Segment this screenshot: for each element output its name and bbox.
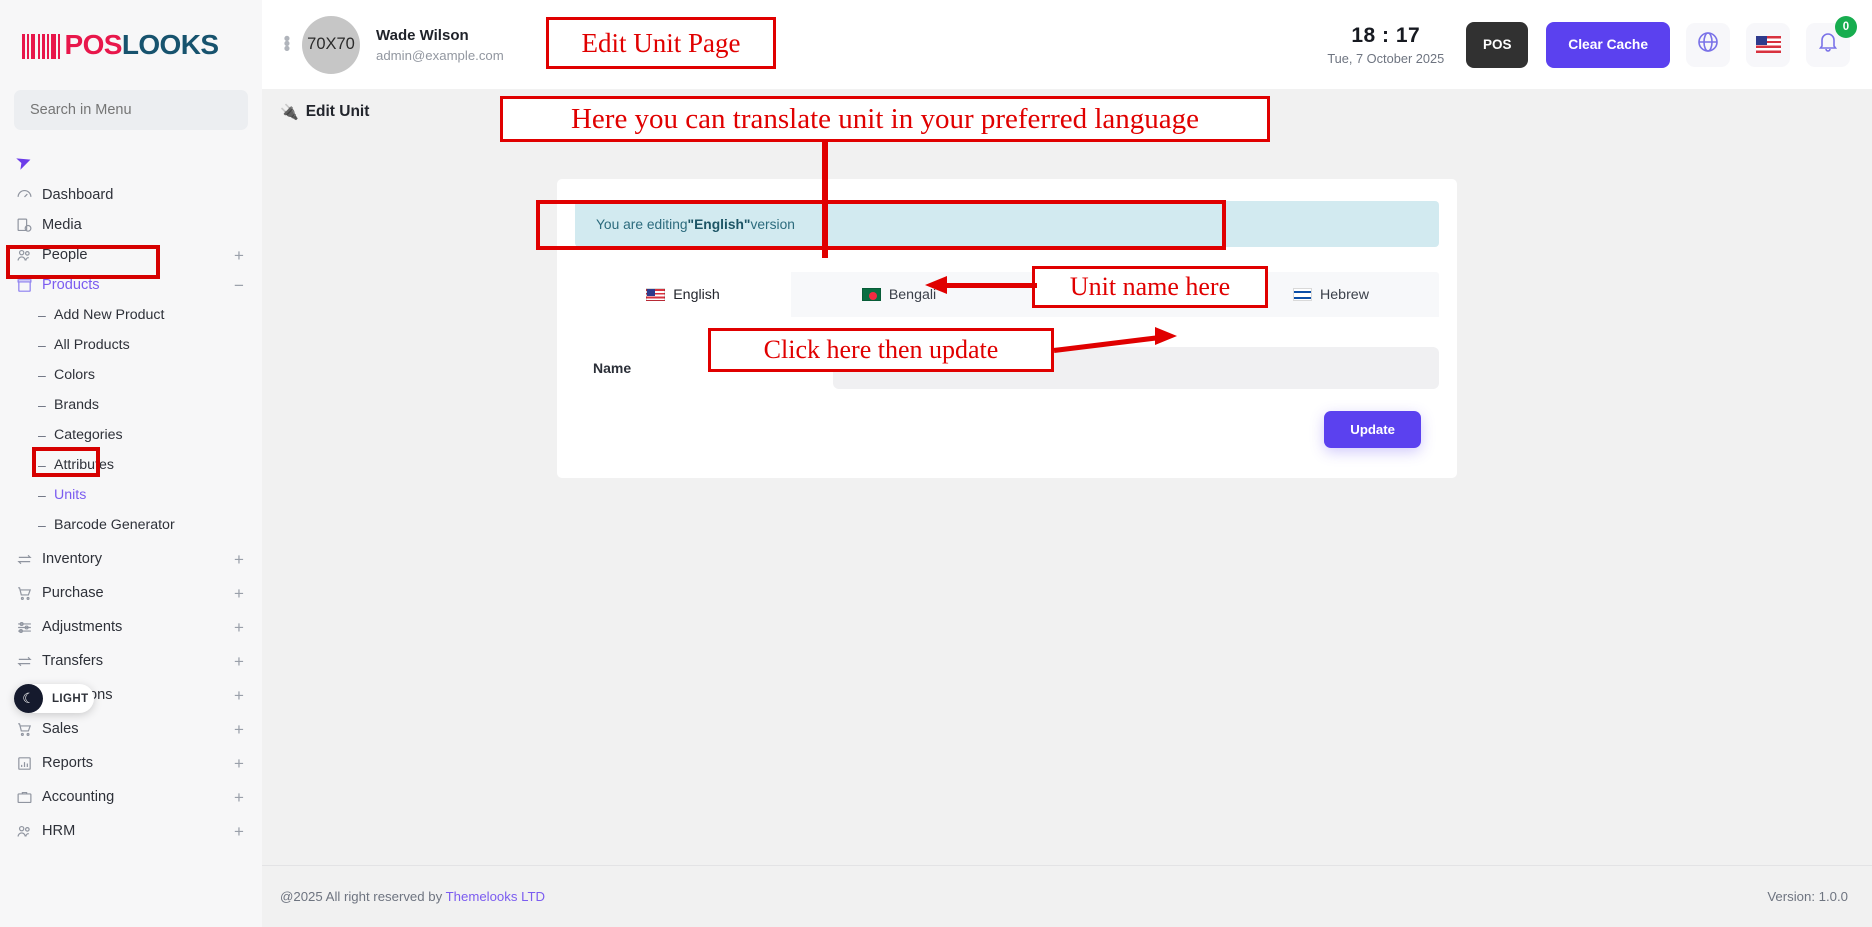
cart-icon (16, 585, 42, 602)
language-tabs: English Bengali Arabic Hebrew (575, 272, 1439, 317)
box-icon (16, 277, 42, 294)
dash-marker: – (38, 367, 54, 383)
page-header-bar: 🔌 Edit Unit (262, 89, 1872, 134)
sidebar-menu: Dashboard Media People + Products (0, 180, 262, 846)
page-footer: @2025 All right reserved by Themelooks L… (262, 865, 1872, 927)
sidebar-item-label: Sales (42, 721, 232, 737)
sidebar-item-sales[interactable]: Sales + (0, 714, 262, 744)
transfer-icon (16, 653, 42, 670)
gauge-icon (16, 187, 42, 204)
sidebar-item-label: Inventory (42, 551, 232, 567)
sidebar-item-label: Adjustments (42, 619, 232, 635)
top-header: ••• 70X70 Wade Wilson admin@example.com … (262, 0, 1872, 89)
language-globe-button[interactable] (1686, 23, 1730, 67)
people-icon (16, 823, 42, 840)
user-meta: Wade Wilson admin@example.com (376, 27, 504, 63)
logo-pos-text: POS (65, 29, 122, 61)
moon-icon: ☾ (14, 684, 43, 713)
notification-badge: 0 (1835, 16, 1857, 38)
plug-icon: 🔌 (280, 103, 299, 121)
expand-toggle[interactable]: + (232, 653, 246, 670)
sidebar-item-inventory[interactable]: Inventory + (0, 544, 262, 574)
alert-suffix: version (750, 217, 794, 232)
report-icon (16, 755, 42, 772)
sidebar-item-label: Reports (42, 755, 232, 771)
transfer-icon (16, 551, 42, 568)
barcode-icon (22, 32, 63, 59)
expand-toggle[interactable]: + (232, 721, 246, 738)
us-flag-icon (1756, 36, 1781, 53)
sidebar-item-hrm[interactable]: HRM + (0, 816, 262, 846)
sidebar-item-label: Purchase (42, 585, 232, 601)
search-input[interactable] (30, 102, 232, 118)
sidebar-subitem-label: Barcode Generator (54, 517, 175, 533)
sidebar-subitem-label: Attributes (54, 457, 114, 473)
globe-icon (1696, 30, 1720, 59)
sidebar: POS LOOKS ➤ Dashboard Media (0, 0, 262, 927)
sidebar-item-label: Products (42, 277, 232, 293)
sidebar-item-products[interactable]: Products − (0, 270, 262, 300)
dash-marker: – (38, 307, 54, 323)
sidebar-item-label: Accounting (42, 789, 232, 805)
name-label: Name (575, 360, 833, 376)
copyright-text: @2025 All right reserved by (280, 889, 446, 904)
sidebar-item-dashboard[interactable]: Dashboard (0, 180, 262, 210)
tab-arabic[interactable]: Arabic (1007, 272, 1223, 317)
theme-toggle-label: LIGHT (52, 693, 89, 705)
footer-version: Version: 1.0.0 (1767, 889, 1848, 904)
logo-looks-text: LOOKS (122, 29, 219, 61)
cart-icon (16, 721, 42, 738)
tab-label: Hebrew (1320, 287, 1369, 303)
alert-language: "English" (688, 217, 751, 232)
sidebar-subitem-attributes[interactable]: – Attributes (0, 450, 262, 480)
footer-copyright: @2025 All right reserved by Themelooks L… (280, 889, 545, 904)
sidebar-item-media[interactable]: Media (0, 210, 262, 240)
sidebar-item-label: Dashboard (42, 187, 246, 203)
sidebar-subitem-label: Colors (54, 367, 95, 383)
sidebar-subitem-categories[interactable]: – Categories (0, 420, 262, 450)
company-link[interactable]: Themelooks LTD (446, 889, 545, 904)
country-flag-button[interactable] (1746, 23, 1790, 67)
people-icon (16, 247, 42, 264)
edit-unit-card: You are editing "English" version Englis… (557, 179, 1457, 478)
briefcase-icon (16, 789, 42, 806)
sidebar-item-transfers[interactable]: Transfers + (0, 646, 262, 676)
user-name: Wade Wilson (376, 27, 504, 44)
sidebar-item-label: HRM (42, 823, 232, 839)
dash-marker: – (38, 427, 54, 443)
bd-flag-icon (862, 288, 881, 301)
expand-toggle[interactable]: + (232, 789, 246, 806)
sidebar-item-label: People (42, 247, 232, 263)
name-field[interactable] (833, 347, 1439, 389)
theme-toggle[interactable]: ☾ LIGHT (14, 684, 94, 713)
sidebar-subitem-all-products[interactable]: – All Products (0, 330, 262, 360)
expand-toggle[interactable]: + (232, 619, 246, 636)
sliders-icon (16, 619, 42, 636)
sa-flag-icon (1081, 288, 1100, 301)
sidebar-subitem-brands[interactable]: – Brands (0, 390, 262, 420)
dash-marker: – (38, 487, 54, 503)
editing-language-alert: You are editing "English" version (575, 201, 1439, 247)
sidebar-item-purchase[interactable]: Purchase + (0, 578, 262, 608)
sidebar-item-accounting[interactable]: Accounting + (0, 782, 262, 812)
tab-label: Bengali (889, 287, 936, 303)
il-flag-icon (1293, 288, 1312, 301)
sidebar-subitem-label: All Products (54, 337, 130, 353)
tab-bengali[interactable]: Bengali (791, 272, 1007, 317)
clear-cache-button[interactable]: Clear Cache (1546, 22, 1670, 68)
dash-marker: – (38, 457, 54, 473)
dash-marker: – (38, 397, 54, 413)
media-icon (16, 217, 42, 234)
expand-toggle[interactable]: + (232, 687, 246, 704)
sidebar-search[interactable] (14, 90, 248, 130)
tab-hebrew[interactable]: Hebrew (1223, 272, 1439, 317)
sidebar-item-label: Transfers (42, 653, 232, 669)
clock: 18 : 17 Tue, 7 October 2025 (1327, 24, 1444, 66)
sidebar-subitem-colors[interactable]: – Colors (0, 360, 262, 390)
pin-icon[interactable]: ➤ (13, 148, 36, 175)
bell-icon (1816, 30, 1840, 59)
tab-label: English (673, 287, 720, 303)
notifications-button[interactable]: 0 (1806, 23, 1850, 67)
pin-row[interactable]: ➤ (0, 144, 262, 180)
expand-toggle[interactable]: + (232, 551, 246, 568)
expand-toggle[interactable]: + (232, 755, 246, 772)
clock-date: Tue, 7 October 2025 (1327, 51, 1444, 66)
expand-toggle[interactable]: + (232, 247, 246, 264)
sidebar-item-people[interactable]: People + (0, 240, 262, 270)
expand-toggle[interactable]: + (232, 823, 246, 840)
sidebar-subitem-barcode-generator[interactable]: – Barcode Generator (0, 510, 262, 540)
collapse-toggle[interactable]: − (232, 277, 246, 294)
name-form-row: Name (557, 317, 1457, 389)
avatar[interactable]: 70X70 (302, 16, 360, 74)
name-input[interactable] (849, 360, 1423, 376)
expand-toggle[interactable]: + (232, 585, 246, 602)
update-button[interactable]: Update (1324, 411, 1421, 448)
sidebar-item-label: Media (42, 217, 246, 233)
user-email: admin@example.com (376, 48, 504, 63)
sidebar-subitem-label: Units (54, 487, 86, 503)
dash-marker: – (38, 337, 54, 353)
us-flag-icon (646, 288, 665, 301)
page-title: Edit Unit (306, 103, 370, 121)
sidebar-subitem-add-new-product[interactable]: – Add New Product (0, 300, 262, 330)
sidebar-item-reports[interactable]: Reports + (0, 748, 262, 778)
sidebar-item-adjustments[interactable]: Adjustments + (0, 612, 262, 642)
sidebar-subitem-units[interactable]: – Units (0, 480, 262, 510)
form-actions: Update (557, 389, 1457, 478)
app-logo[interactable]: POS LOOKS (0, 0, 262, 90)
pos-button[interactable]: POS (1466, 22, 1528, 68)
tab-english[interactable]: English (575, 272, 791, 317)
tab-label: Arabic (1108, 287, 1148, 303)
sidebar-subitem-label: Add New Product (54, 307, 164, 323)
alert-prefix: You are editing (596, 217, 688, 232)
page-content: 🔌 Edit Unit You are editing "English" ve… (262, 89, 1872, 927)
sidebar-subitem-label: Categories (54, 427, 123, 443)
dash-marker: – (38, 517, 54, 533)
sidebar-subitem-label: Brands (54, 397, 99, 413)
clock-time: 18 : 17 (1327, 24, 1444, 48)
menu-kebab-icon[interactable]: ••• (280, 37, 294, 52)
